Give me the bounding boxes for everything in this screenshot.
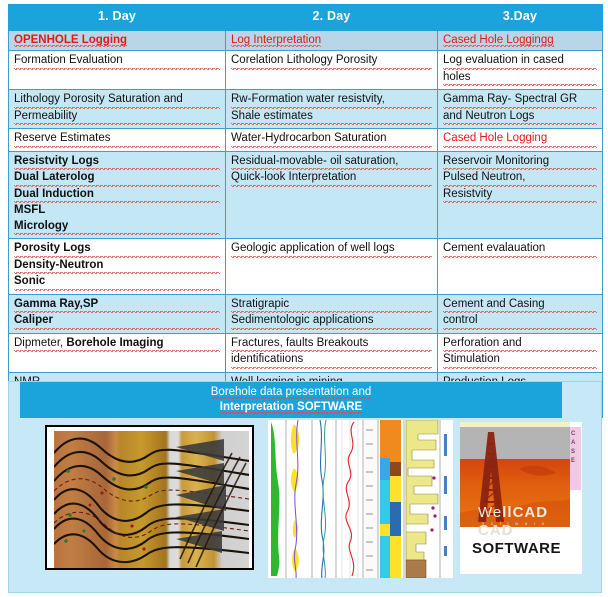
cell-day2-r7: Fractures, faults Breakouts identificati… bbox=[226, 333, 438, 372]
table-row: Dipmeter, Borehole Imaging Fractures, fa… bbox=[9, 333, 603, 372]
cell-day2-r5: Geologic application of well logs bbox=[226, 239, 438, 295]
column-header-day3: 3.Day bbox=[438, 5, 603, 31]
cell-day1-r3: Reserve Estimates bbox=[9, 129, 226, 152]
cell-day3-r4: Reservoir Monitoring Pulsed Neutron, Res… bbox=[438, 151, 603, 239]
well-log-tracks-svg bbox=[268, 420, 453, 578]
cell-day1-r5: Porosity Logs Density-Neutron Sonic bbox=[9, 239, 226, 295]
column-header-day1: 1. Day bbox=[9, 5, 226, 31]
cell-day1-r4: Resistvity Logs Dual Laterolog Dual Indu… bbox=[9, 151, 226, 239]
table-row: Formation Evaluation Corelation Litholog… bbox=[9, 51, 603, 90]
cell-day2-r2: Rw-Formation water resistvity, Shale est… bbox=[226, 90, 438, 129]
table-row: Resistvity Logs Dual Laterolog Dual Indu… bbox=[9, 151, 603, 239]
cell-day3-r6: Cement and Casing control bbox=[438, 294, 603, 333]
composite-well-log-figure bbox=[268, 420, 453, 578]
table-header-row: 1. Day 2. Day 3.Day bbox=[9, 5, 603, 31]
cell-day2-r4: Residual-movable- oil saturation, Quick-… bbox=[226, 151, 438, 239]
table-row: Gamma Ray,SP Caliper Stratigrapic Sedime… bbox=[9, 294, 603, 333]
wellcad-logo-figure: WellCAD CAD s o f t w a r e SOFTWARE CAS… bbox=[460, 422, 582, 574]
slide-root: 1. Day 2. Day 3.Day OPENHOLE Logging Log… bbox=[0, 0, 608, 597]
cell-day3-r7: Perforation and Stimulation bbox=[438, 333, 603, 372]
borehole-image-log-figure bbox=[45, 425, 254, 570]
banner-line-1: Borehole data presentation and bbox=[211, 386, 371, 399]
table-body: OPENHOLE Logging Log Interpretation Case… bbox=[9, 30, 603, 417]
column-header-day2: 2. Day bbox=[226, 5, 438, 31]
cell-day1-r2: Lithology Porosity Saturation and Permea… bbox=[9, 90, 226, 129]
software-label: SOFTWARE bbox=[472, 540, 561, 557]
table-row: Porosity Logs Density-Neutron Sonic Geol… bbox=[9, 239, 603, 295]
wellcad-wordmark: WellCAD bbox=[478, 504, 548, 521]
cell-day3-r2: Gamma Ray- Spectral GR and Neutron Logs bbox=[438, 90, 603, 129]
cell-day2-r6: Stratigrapic Sedimentologic applications bbox=[226, 294, 438, 333]
sinusoid-traces-svg bbox=[54, 431, 249, 568]
depth-scale bbox=[364, 420, 378, 578]
cell-day1-r1: Formation Evaluation bbox=[9, 51, 226, 90]
software-panel: Borehole data presentation and Interpret… bbox=[8, 381, 602, 593]
track-facies bbox=[380, 420, 404, 578]
borehole-texture bbox=[54, 431, 249, 568]
cell-day3-r1: Log evaluation in cased holes bbox=[438, 51, 603, 90]
course-schedule-table: 1. Day 2. Day 3.Day OPENHOLE Logging Log… bbox=[8, 4, 603, 418]
subheader-openhole-logging: OPENHOLE Logging bbox=[9, 30, 226, 51]
table-row: Lithology Porosity Saturation and Permea… bbox=[9, 90, 603, 129]
cell-day3-r5: Cement evalauation bbox=[438, 239, 603, 295]
subheader-log-interpretation: Log Interpretation bbox=[226, 30, 438, 51]
banner-line-2: Interpretation SOFTWARE bbox=[220, 401, 362, 414]
cell-day2-r3: Water-Hydrocarbon Saturation bbox=[226, 129, 438, 152]
wellcad-tagline: s o f t w a r e bbox=[482, 521, 547, 526]
figure-strip: WellCAD CAD s o f t w a r e SOFTWARE CAS… bbox=[20, 418, 580, 590]
cell-day2-r1: Corelation Lithology Porosity bbox=[226, 51, 438, 90]
cell-day1-r6: Gamma Ray,SP Caliper bbox=[9, 294, 226, 333]
logo-side-text: CASE bbox=[571, 430, 575, 466]
table-row: Reserve Estimates Water-Hydrocarbon Satu… bbox=[9, 129, 603, 152]
dipmeter-borehole-imaging: Dipmeter, Borehole Imaging bbox=[14, 336, 220, 353]
cell-day1-r7: Dipmeter, Borehole Imaging bbox=[9, 333, 226, 372]
software-banner: Borehole data presentation and Interpret… bbox=[20, 382, 562, 418]
subheader-cased-hole-logging: Cased Hole Loggingg bbox=[438, 30, 603, 51]
table-subheader-row: OPENHOLE Logging Log Interpretation Case… bbox=[9, 30, 603, 51]
spacer bbox=[14, 70, 220, 85]
cell-day3-r3: Cased Hole Logging bbox=[438, 129, 603, 152]
